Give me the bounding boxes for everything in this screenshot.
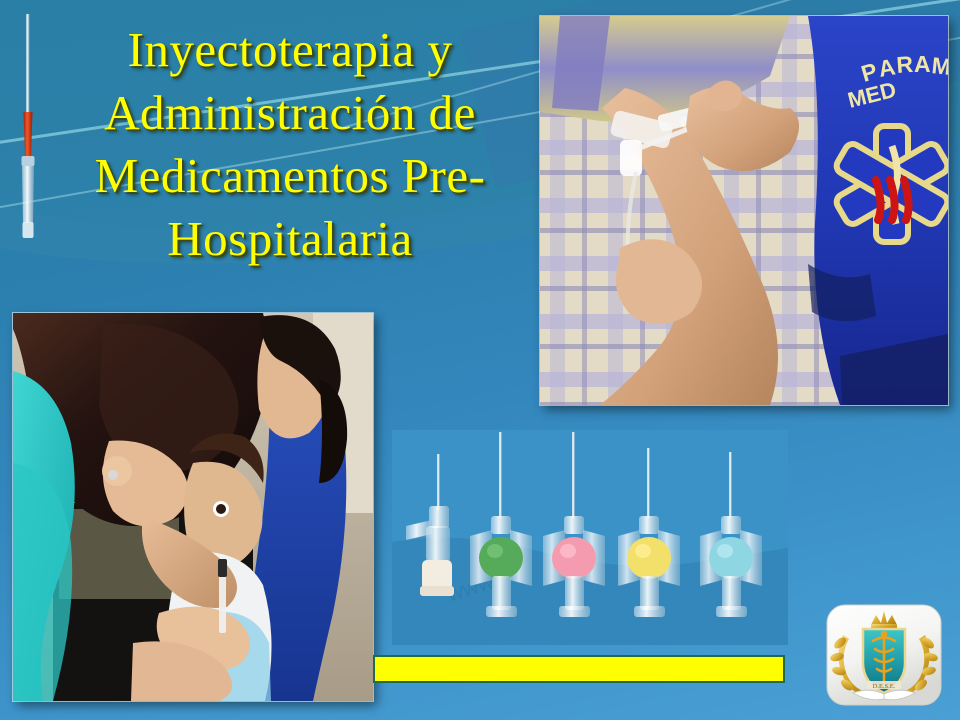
title-line-2: Administración de: [40, 81, 540, 144]
title-line-3: Medicamentos Pre-: [40, 144, 540, 207]
presentation-slide: Inyectoterapia y Administración de Medic…: [0, 0, 960, 720]
title-line-4: Hospitalaria: [40, 207, 540, 270]
svg-text:M: M: [930, 52, 948, 80]
logo-motto: D.E.S.E.: [873, 683, 896, 690]
institution-logo: D.E.S.E.: [823, 601, 945, 709]
photo-iv-insertion: P A R A M MED: [540, 16, 948, 405]
svg-text:A: A: [914, 51, 931, 77]
subtitle-placeholder-bar[interactable]: [373, 655, 785, 683]
slide-title: Inyectoterapia y Administración de Medic…: [40, 18, 540, 270]
photo-iv-catheters: www: [392, 430, 788, 645]
svg-text:R: R: [896, 51, 915, 78]
title-line-1: Inyectoterapia y: [40, 18, 540, 81]
photo-child-injection: [13, 313, 373, 701]
